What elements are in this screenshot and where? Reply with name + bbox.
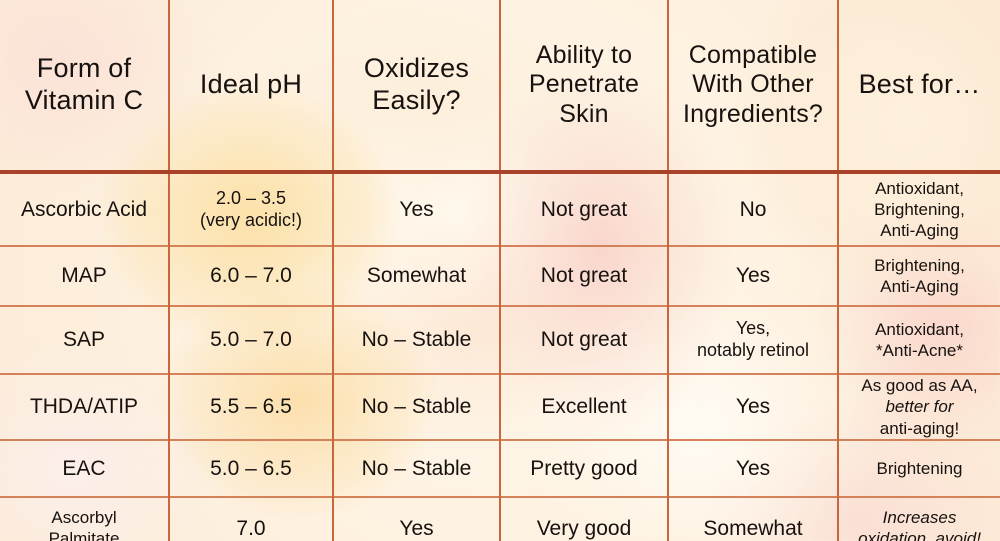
cell-line: Yes	[675, 394, 831, 419]
cell-line: Somewhat	[675, 516, 831, 541]
comparison-table: Form of Vitamin C Ideal pH Oxidizes Easi…	[0, 0, 1000, 541]
header-line: Best for…	[845, 69, 994, 101]
cell-oxidizes: Yes	[333, 497, 500, 541]
column-header-form-of-vitamin-c: Form of Vitamin C	[0, 0, 169, 172]
cell-line-italic: oxidation, avoid!	[845, 528, 994, 541]
table-body: Ascorbic Acid 2.0 – 3.5 (very acidic!) Y…	[0, 172, 1000, 541]
cell-penetrate: Very good	[500, 497, 668, 541]
cell-ideal-ph: 7.0	[169, 497, 333, 541]
header-line: Form of	[6, 53, 162, 85]
column-header-oxidizes-easily: Oxidizes Easily?	[333, 0, 500, 172]
header-line: Oxidizes	[340, 53, 493, 85]
cell-line-italic: Increases	[845, 507, 994, 528]
cell-line-italic: better for	[845, 396, 994, 417]
header-line: Vitamin C	[6, 85, 162, 117]
cell-line: 5.5 – 6.5	[176, 394, 326, 419]
column-header-best-for: Best for…	[838, 0, 1000, 172]
cell-line: 5.0 – 7.0	[176, 327, 326, 352]
cell-ideal-ph: 2.0 – 3.5 (very acidic!)	[169, 172, 333, 246]
cell-line: Yes	[675, 456, 831, 481]
cell-penetrate: Not great	[500, 246, 668, 306]
cell-line: As good as AA,	[845, 375, 994, 396]
column-header-ability-to-penetrate-skin: Ability to Penetrate Skin	[500, 0, 668, 172]
cell-line: 6.0 – 7.0	[176, 263, 326, 288]
cell-compatible: Yes	[668, 440, 838, 497]
cell-line: Yes,	[675, 318, 831, 340]
column-header-ideal-ph: Ideal pH	[169, 0, 333, 172]
header-line: Skin	[507, 100, 661, 130]
header-line: Penetrate	[507, 70, 661, 100]
cell-ideal-ph: 5.0 – 7.0	[169, 306, 333, 374]
cell-line: Brightening,	[845, 255, 994, 276]
cell-best-for: Brightening, Anti-Aging	[838, 246, 1000, 306]
cell-best-for: Brightening	[838, 440, 1000, 497]
cell-best-for: Antioxidant, Brightening, Anti-Aging	[838, 172, 1000, 246]
cell-form: THDA/ATIP	[0, 374, 169, 440]
cell-line: Anti-Aging	[845, 276, 994, 297]
header-line: Compatible	[675, 41, 831, 71]
cell-compatible: Yes, notably retinol	[668, 306, 838, 374]
cell-oxidizes: No – Stable	[333, 374, 500, 440]
cell-best-for: Increases oxidation, avoid!	[838, 497, 1000, 541]
cell-line: Brightening	[845, 458, 994, 479]
cell-line: Antioxidant,	[845, 178, 994, 199]
cell-line: *Anti-Acne*	[845, 340, 994, 361]
cell-line: Ascorbyl	[6, 507, 162, 528]
header-line: With Other	[675, 70, 831, 100]
table-header: Form of Vitamin C Ideal pH Oxidizes Easi…	[0, 0, 1000, 172]
cell-line: Brightening,	[845, 199, 994, 220]
cell-line: Yes	[675, 263, 831, 288]
cell-compatible: Somewhat	[668, 497, 838, 541]
vitamin-c-comparison-table: Form of Vitamin C Ideal pH Oxidizes Easi…	[0, 0, 1000, 541]
table-row: MAP 6.0 – 7.0 Somewhat Not great Yes Bri…	[0, 246, 1000, 306]
header-line: Ideal pH	[176, 69, 326, 101]
cell-best-for: As good as AA, better for anti-aging!	[838, 374, 1000, 440]
cell-ideal-ph: 6.0 – 7.0	[169, 246, 333, 306]
column-header-compatible-with-other-ingredients: Compatible With Other Ingredients?	[668, 0, 838, 172]
cell-form: Ascorbyl Palmitate	[0, 497, 169, 541]
cell-oxidizes: No – Stable	[333, 440, 500, 497]
header-line: Ingredients?	[675, 100, 831, 130]
cell-ideal-ph: 5.5 – 6.5	[169, 374, 333, 440]
cell-line: 5.0 – 6.5	[176, 456, 326, 481]
cell-oxidizes: No – Stable	[333, 306, 500, 374]
cell-form: MAP	[0, 246, 169, 306]
cell-form: Ascorbic Acid	[0, 172, 169, 246]
cell-oxidizes: Yes	[333, 172, 500, 246]
cell-ideal-ph: 5.0 – 6.5	[169, 440, 333, 497]
cell-penetrate: Excellent	[500, 374, 668, 440]
header-line: Easily?	[340, 85, 493, 117]
cell-penetrate: Not great	[500, 172, 668, 246]
cell-form: SAP	[0, 306, 169, 374]
cell-compatible: No	[668, 172, 838, 246]
cell-line: Palmitate	[6, 528, 162, 541]
cell-line: 2.0 – 3.5	[176, 188, 326, 210]
cell-line: anti-aging!	[845, 418, 994, 439]
cell-line: notably retinol	[675, 340, 831, 362]
cell-line: Antioxidant,	[845, 319, 994, 340]
cell-line: Anti-Aging	[845, 220, 994, 241]
cell-line: 7.0	[176, 516, 326, 541]
table-row: THDA/ATIP 5.5 – 6.5 No – Stable Excellen…	[0, 374, 1000, 440]
table-row: Ascorbic Acid 2.0 – 3.5 (very acidic!) Y…	[0, 172, 1000, 246]
cell-compatible: Yes	[668, 246, 838, 306]
cell-penetrate: Pretty good	[500, 440, 668, 497]
table-row: SAP 5.0 – 7.0 No – Stable Not great Yes,…	[0, 306, 1000, 374]
cell-line: No	[675, 197, 831, 222]
cell-form: EAC	[0, 440, 169, 497]
cell-oxidizes: Somewhat	[333, 246, 500, 306]
cell-compatible: Yes	[668, 374, 838, 440]
header-line: Ability to	[507, 41, 661, 71]
header-row: Form of Vitamin C Ideal pH Oxidizes Easi…	[0, 0, 1000, 172]
table-row: EAC 5.0 – 6.5 No – Stable Pretty good Ye…	[0, 440, 1000, 497]
cell-penetrate: Not great	[500, 306, 668, 374]
table-row: Ascorbyl Palmitate 7.0 Yes Very good Som…	[0, 497, 1000, 541]
cell-best-for: Antioxidant, *Anti-Acne*	[838, 306, 1000, 374]
cell-line: (very acidic!)	[176, 210, 326, 232]
